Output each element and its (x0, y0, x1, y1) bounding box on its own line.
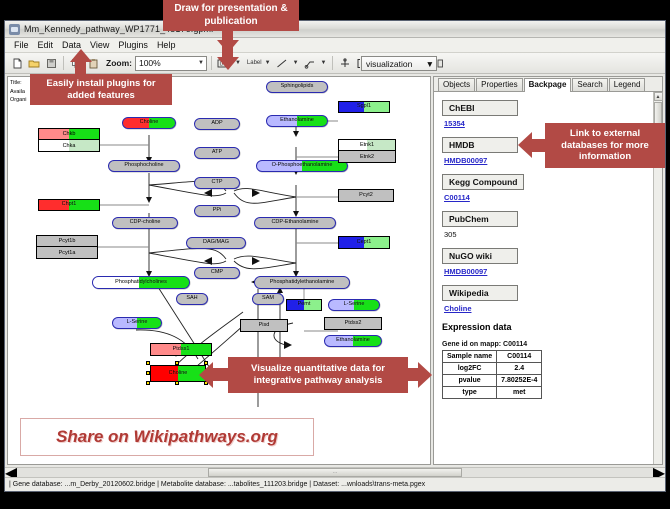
cell-value-pvalue: 7.80252E-4 (497, 375, 542, 387)
tab-search[interactable]: Search (572, 78, 607, 91)
callout-visualize-quantitative-data: Visualize quantitative data for integrat… (228, 357, 408, 393)
selection-handle-sw[interactable] (146, 381, 150, 385)
node-sah[interactable]: SAH (176, 293, 208, 305)
zoom-value: 100% (139, 58, 161, 68)
link-wikipedia[interactable]: Choline (444, 304, 653, 313)
section-heading-chebi: ChEBI (442, 100, 518, 116)
tab-backpage[interactable]: Backpage (524, 78, 572, 92)
scrollbar-track[interactable]: ⋯ (17, 468, 652, 477)
label-button[interactable]: Label (247, 60, 262, 66)
cell-label-sample-name: Sample name (443, 351, 497, 363)
node-phosphocholine[interactable]: Phosphocholine (108, 160, 180, 172)
toolbar: Zoom: 100% ▼ DN ▼ Label ▼ ▼ ▼ (5, 53, 665, 74)
node-dag-mag[interactable]: DAG/MAG (186, 237, 246, 249)
gene-etnk1[interactable]: Etnk1 (339, 140, 395, 151)
node-l-serine-right[interactable]: L-Serine (328, 299, 380, 311)
share-on-wikipathways-banner: Share on Wikipathways.org (20, 418, 314, 456)
gene-box-etnk1-etnk2[interactable]: Etnk1 Etnk2 (338, 139, 396, 163)
chevron-down-icon: ▼ (198, 60, 204, 66)
chevron-down-icon: ▼ (426, 59, 434, 69)
cell-value-sample-name: C00114 (497, 351, 542, 363)
zoom-label: Zoom: (106, 58, 132, 68)
toolbar-separator (332, 56, 333, 70)
link-nugo-wiki[interactable]: HMDB00097 (444, 267, 653, 276)
scroll-up-icon[interactable]: ▲ (654, 92, 663, 101)
visualization-value: visualization (366, 59, 412, 69)
zoom-combo[interactable]: 100% ▼ (135, 56, 207, 71)
tab-legend[interactable]: Legend (609, 78, 646, 91)
node-cdp-ethanolamine[interactable]: CDP-Ethanolamine (254, 217, 336, 229)
expression-data-title: Expression data (442, 322, 653, 332)
canvas-horizontal-scrollbar[interactable]: ◀ ⋯ ▶ (5, 467, 665, 477)
section-heading-kegg-compound: Kegg Compound (442, 174, 524, 190)
tab-properties[interactable]: Properties (476, 78, 522, 91)
callout-external-databases: Link to external databases for more info… (545, 123, 665, 168)
save-disk-icon[interactable] (43, 55, 59, 71)
cell-label-log2fc: log2FC (443, 363, 497, 375)
gene-box-chkb-chka[interactable]: Chkb Chka (38, 128, 100, 152)
selection-handle-w[interactable] (146, 371, 150, 375)
callout-viz-arrow-left (199, 362, 213, 388)
chevron-down-icon[interactable]: ▼ (321, 60, 327, 66)
node-ctp[interactable]: CTP (194, 177, 240, 189)
open-folder-icon[interactable] (26, 55, 42, 71)
gene-pemt[interactable]: Pemt (286, 299, 322, 311)
callout-viz-arrow (418, 362, 432, 388)
menu-bar: File Edit Data View Plugins Help (5, 38, 665, 53)
gene-etnk2[interactable]: Etnk2 (339, 151, 395, 162)
gene-cept1[interactable]: Cept1 (338, 236, 390, 249)
section-heading-wikipedia: Wikipedia (442, 285, 518, 301)
node-choline-top[interactable]: Choline (122, 117, 176, 129)
screenshot-root: Mm_Kennedy_pathway_WP1771_45176.gpml Fil… (0, 0, 670, 509)
menu-file[interactable]: File (10, 39, 34, 51)
section-heading-nugo-wiki: NuGO wiki (442, 248, 518, 264)
node-ethanolamine-top[interactable]: Ethanolamine (266, 115, 328, 127)
gene-chkb[interactable]: Chkb (39, 129, 99, 140)
visualization-combo[interactable]: visualization ▼ (361, 56, 437, 71)
callout-draw-for-publication: Draw for presentation & publication (163, 0, 299, 31)
node-sam[interactable]: SAM (252, 293, 284, 305)
section-heading-hmdb: HMDB (442, 137, 518, 153)
menu-help[interactable]: Help (153, 39, 181, 51)
menu-plugins[interactable]: Plugins (114, 39, 153, 51)
callout-install-plugins: Easily install plugins for added feature… (30, 74, 172, 105)
tab-objects[interactable]: Objects (438, 78, 475, 91)
interaction-icon[interactable] (302, 55, 318, 71)
status-bar: | Gene database: ...m_Derby_20120602.bri… (5, 477, 665, 491)
expression-data-table: Sample name C00114 log2FC 2.4 pvalue 7.8… (442, 350, 542, 399)
selection-handle-s[interactable] (175, 381, 179, 385)
node-cdp-choline[interactable]: CDP-choline (112, 217, 178, 229)
panel-tabs: Objects Properties Backpage Search Legen… (434, 77, 662, 92)
selection-handle-nw[interactable] (146, 361, 150, 365)
callout-plugins-arrow (70, 49, 92, 62)
gene-sgpl1[interactable]: Sgpl1 (338, 101, 390, 113)
cell-value-log2fc: 2.4 (497, 363, 542, 375)
gene-ptdss2[interactable]: Ptdss2 (324, 317, 382, 330)
pathway-drawing[interactable]: Title: Availa Organi (8, 77, 430, 464)
chevron-down-icon[interactable]: ▼ (265, 60, 271, 66)
link-kegg-compound[interactable]: C00114 (444, 193, 653, 202)
gene-pcyt2[interactable]: Pcyt2 (338, 189, 394, 202)
node-ethanolamine-bottom[interactable]: Ethanolamine (324, 335, 382, 347)
toolbar-separator (211, 56, 212, 70)
node-atp[interactable]: ATP (194, 147, 240, 159)
node-adp[interactable]: ADP (194, 118, 240, 130)
gene-box-pcyt1b-pcyt1a[interactable]: Pcyt1b Pcyt1a (36, 235, 98, 259)
callout-link-arrow (518, 132, 532, 158)
node-cmp[interactable]: CMP (194, 267, 240, 279)
gene-pisd[interactable]: Pisd (240, 319, 288, 332)
node-o-phosphoethanolamine[interactable]: O-Phosphoethanolamine (256, 160, 348, 172)
new-document-icon[interactable] (9, 55, 25, 71)
selection-handle-n[interactable] (175, 361, 179, 365)
anchor-icon[interactable] (337, 55, 353, 71)
callout-draw-arrowhead (217, 57, 239, 70)
section-heading-pubchem: PubChem (442, 211, 518, 227)
table-row: log2FC 2.4 (443, 363, 542, 375)
table-row: Sample name C00114 (443, 351, 542, 363)
cell-label-pvalue: pvalue (443, 375, 497, 387)
title-bar: Mm_Kennedy_pathway_WP1771_45176.gpml (5, 21, 665, 38)
table-row: type met (443, 387, 542, 399)
app-icon (9, 24, 20, 35)
gene-chpt1[interactable]: Chpt1 (38, 199, 100, 211)
node-ppi[interactable]: PPi (194, 205, 240, 217)
node-sphingolipids[interactable]: Sphingolipids (266, 81, 328, 93)
node-choline-selected[interactable]: Choline (150, 365, 206, 382)
cell-value-type: met (497, 387, 542, 399)
menu-edit[interactable]: Edit (34, 39, 59, 51)
gene-pcyt1a[interactable]: Pcyt1a (37, 247, 97, 258)
scrollbar-thumb[interactable]: ⋯ (208, 468, 462, 477)
gene-ptdss1[interactable]: Ptdss1 (150, 343, 212, 356)
node-phosphatidylcholines[interactable]: Phosphatidylcholines (92, 276, 190, 289)
table-row: pvalue 7.80252E-4 (443, 375, 542, 387)
gene-pcyt1b[interactable]: Pcyt1b (37, 236, 97, 247)
value-pubchem: 305 (444, 230, 653, 239)
gene-chka[interactable]: Chka (39, 140, 99, 151)
node-l-serine-left[interactable]: L-Serine (112, 317, 162, 329)
callout-draw-arrow (217, 40, 239, 53)
status-text: | Gene database: ...m_Derby_20120602.bri… (9, 481, 425, 488)
gene-id-line: Gene id on mapp: C00114 (442, 341, 653, 348)
toolbar-separator (63, 56, 64, 70)
pathway-canvas[interactable]: Title: Availa Organi (7, 76, 431, 465)
node-phosphatidylethanolamine[interactable]: Phosphatidylethanolamine (254, 276, 350, 289)
chevron-down-icon[interactable]: ▼ (293, 60, 299, 66)
line-icon[interactable] (274, 55, 290, 71)
cell-label-type: type (443, 387, 497, 399)
